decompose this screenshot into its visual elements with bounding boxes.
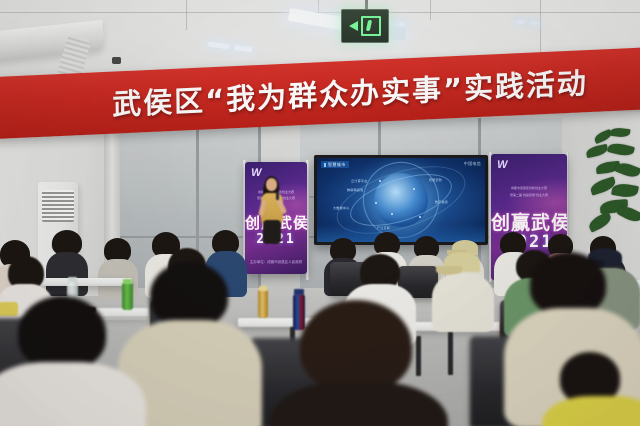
screen-label: 智能安防 <box>429 178 442 182</box>
ceiling-spot-light <box>516 20 525 24</box>
screen-label: 大数据中心 <box>333 206 350 210</box>
plant-leaf <box>587 211 614 232</box>
emergency-exit-sign <box>341 9 389 43</box>
event-banner-text: 武侯区“我为群众办实事”实践活动 <box>112 60 588 124</box>
attendee-torso <box>432 274 494 332</box>
globe-node <box>375 202 377 204</box>
screen-label: 数字政务 <box>435 200 448 204</box>
presenter-skirt <box>263 220 281 244</box>
bottle-cap <box>68 277 77 282</box>
bottle-cap <box>259 286 267 291</box>
ceiling-spot-light <box>530 21 539 25</box>
screen-title-chip: 智慧城市 <box>321 161 349 168</box>
presenter-head <box>266 178 277 191</box>
pepsi-bottle <box>293 294 305 330</box>
attendee-hair <box>150 262 228 328</box>
potted-green-plant <box>584 128 640 256</box>
screen-corner-logo: 中国电信 <box>464 161 481 167</box>
presenter <box>266 178 296 274</box>
chip-dot-icon <box>324 163 326 167</box>
globe-node <box>413 188 415 190</box>
tea-bottle-amber <box>258 290 268 318</box>
attendee-bag <box>0 302 18 316</box>
screen-label: 云计算平台 <box>351 179 368 183</box>
kt-subline-right: 暨第二届“创赢武侯”创业大赛 <box>491 193 567 198</box>
ceiling-seam <box>540 0 541 58</box>
microphone-icon <box>276 192 279 200</box>
water-bottle-green <box>122 283 133 310</box>
presentation-display: 智慧城市 中国电信 云计算平台 物联网感知 大数据中心 智能安防 数字政务 产业… <box>314 155 488 245</box>
bottle-cap <box>294 289 304 295</box>
meeting-room-photo: 武侯区“我为群众办实事”实践活动 智慧城市 中国电信 云计算平台 物联网感知 大… <box>0 0 640 426</box>
ceiling-camera <box>112 57 121 64</box>
kt-headline-right: 成都市武侯区创新创业大赛 <box>491 186 567 191</box>
plant-leaf <box>617 203 640 225</box>
plant-leaf <box>611 182 639 199</box>
plant-leaf <box>609 127 630 139</box>
globe-node <box>379 180 381 182</box>
ceiling-seam <box>186 0 187 30</box>
plant-leaf <box>607 141 635 158</box>
attendee-hair <box>18 296 106 370</box>
attendee-hair <box>530 252 606 316</box>
kt-logo-left: W <box>250 167 262 179</box>
left-arrow-icon <box>349 21 358 31</box>
bottle-cap <box>123 279 132 284</box>
ceiling-spot-light <box>398 22 405 26</box>
table-leg <box>416 336 421 376</box>
presentation-screen-content: 智慧城市 中国电信 云计算平台 物联网感知 大数据中心 智能安防 数字政务 产业… <box>317 158 485 242</box>
ac-grille <box>42 190 74 222</box>
table-leg <box>448 331 453 375</box>
plant-leaf <box>615 160 640 180</box>
ceiling-seam <box>430 0 431 20</box>
plant-leaf <box>585 144 609 158</box>
screen-title-text: 智慧城市 <box>328 162 346 168</box>
globe-node <box>419 216 421 218</box>
kt-title-right: 创赢武侯 <box>491 208 567 235</box>
running-person-icon <box>361 16 381 36</box>
globe-node <box>391 213 393 215</box>
kt-logo-right: W <box>496 159 508 171</box>
attendee-hair <box>300 300 412 392</box>
screen-label: 物联网感知 <box>347 188 364 192</box>
